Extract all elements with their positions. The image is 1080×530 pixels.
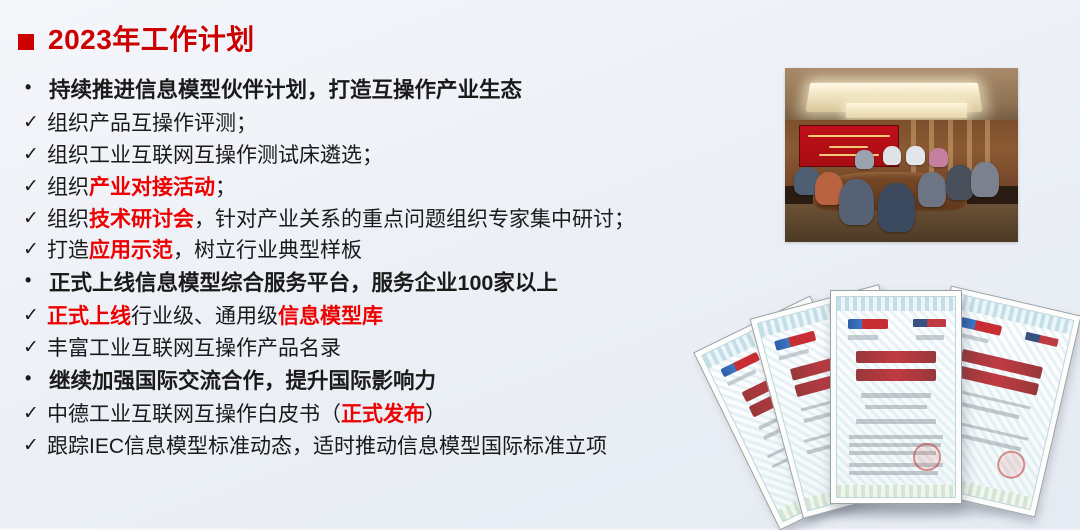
check-bullet-icon: ✓	[22, 237, 47, 262]
certificate-meta-line	[778, 348, 809, 361]
check-bullet-icon: ✓	[22, 401, 47, 426]
certificate-issuer-logo-icon	[913, 319, 946, 327]
check-line: ✓丰富工业互联网互操作产品名录	[22, 335, 742, 363]
dot-bullet-icon: •	[22, 76, 49, 100]
line-text: 持续推进信息模型伙伴计划，打造互操作产业生态	[49, 76, 742, 104]
content-list: •持续推进信息模型伙伴计划，打造互操作产业生态✓组织产品互操作评测；✓组织工业互…	[22, 76, 742, 465]
check-bullet-icon: ✓	[22, 335, 47, 360]
photo-person	[971, 162, 999, 197]
highlight-text: 正式发布	[341, 403, 425, 426]
highlight-text: 技术研讨会	[89, 208, 194, 231]
certificate-body-line	[861, 393, 932, 398]
certificate-logo-icon	[848, 319, 888, 329]
check-bullet-icon: ✓	[22, 206, 47, 231]
check-bullet-icon: ✓	[22, 303, 47, 328]
certificate-body-line	[856, 419, 936, 424]
photo-person	[883, 146, 902, 165]
certificate-seal-icon	[994, 448, 1028, 482]
certificate-seal-icon	[913, 443, 941, 471]
photo-person	[929, 148, 948, 167]
certificate-meta-line	[848, 335, 879, 340]
photo-person	[878, 183, 915, 232]
certificate-issuer-logo-icon	[1024, 332, 1059, 347]
certificate-body-line	[849, 435, 943, 439]
line-text: 继续加强国际交流合作，提升国际影响力	[49, 367, 742, 395]
text-segment: 组织产品互操作评测；	[47, 112, 257, 135]
check-line: ✓跟踪IEC信息模型标准动态，适时推动信息模型国际标准立项	[22, 433, 742, 461]
check-line: ✓组织产业对接活动；	[22, 174, 742, 202]
title-text: 2023年工作计划	[48, 26, 255, 54]
bullet-line: •持续推进信息模型伙伴计划，打造互操作产业生态	[22, 76, 742, 104]
text-segment: 组织	[47, 176, 89, 199]
certificate-item-front	[830, 290, 962, 504]
text-segment: ；	[215, 176, 236, 199]
photo-chandelier-secondary-icon	[846, 103, 967, 119]
certificate-logo-icon	[774, 331, 816, 351]
certificate-body-line	[865, 405, 926, 409]
certificate-meta-line	[957, 332, 988, 344]
bullet-line: •继续加强国际交流合作，提升国际影响力	[22, 367, 742, 395]
photo-person	[839, 179, 874, 224]
check-line: ✓组织技术研讨会，针对产业关系的重点问题组织专家集中研讨；	[22, 206, 742, 234]
highlight-text: 正式上线	[47, 305, 131, 328]
line-text: 打造应用示范，树立行业典型样板	[47, 237, 742, 265]
line-text: 跟踪IEC信息模型标准动态，适时推动信息模型国际标准立项	[47, 433, 742, 461]
text-segment: ，树立行业典型样板	[173, 239, 362, 262]
text-segment: 正式上线信息模型综合服务平台，服务企业100家以上	[49, 271, 558, 295]
title-square-bullet-icon	[18, 34, 34, 50]
check-line: ✓正式上线行业级、通用级信息模型库	[22, 303, 742, 331]
dot-bullet-icon: •	[22, 269, 49, 293]
check-line: ✓组织产品互操作评测；	[22, 110, 742, 138]
photo-led-text-line	[808, 135, 890, 137]
text-segment: 继续加强国际交流合作，提升国际影响力	[49, 369, 436, 393]
dot-bullet-icon: •	[22, 367, 49, 391]
line-text: 组织技术研讨会，针对产业关系的重点问题组织专家集中研讨；	[47, 206, 742, 234]
check-line: ✓组织工业互联网互操作测试床遴选；	[22, 142, 742, 170]
text-segment: 丰富工业互联网互操作产品名录	[47, 337, 341, 360]
slide-root: 2023年工作计划 •持续推进信息模型伙伴计划，打造互操作产业生态✓组织产品互操…	[0, 0, 1080, 528]
check-bullet-icon: ✓	[22, 142, 47, 167]
certificate-guilloche-top	[837, 297, 955, 311]
check-bullet-icon: ✓	[22, 433, 47, 458]
certificate-inner	[836, 296, 956, 498]
text-segment: ）	[425, 403, 446, 426]
photo-person	[918, 172, 946, 207]
text-segment: 组织	[47, 208, 89, 231]
check-bullet-icon: ✓	[22, 174, 47, 199]
line-text: 组织工业互联网互操作测试床遴选；	[47, 142, 742, 170]
certificate-body-line	[849, 471, 939, 475]
line-text: 中德工业互联网互操作白皮书（正式发布）	[47, 401, 742, 429]
certificate-meta-line	[916, 335, 944, 340]
check-line: ✓中德工业互联网互操作白皮书（正式发布）	[22, 401, 742, 429]
highlight-text: 应用示范	[89, 239, 173, 262]
text-segment: 中德工业互联网互操作白皮书（	[47, 403, 341, 426]
meeting-room-photo	[785, 68, 1018, 242]
check-line: ✓打造应用示范，树立行业典型样板	[22, 237, 742, 265]
certificate-guilloche-bottom	[837, 485, 955, 497]
highlight-text: 信息模型库	[278, 305, 383, 328]
certificate-title-line2	[856, 369, 936, 381]
text-segment: 组织工业互联网互操作测试床遴选；	[47, 144, 383, 167]
photo-led-text-line	[829, 146, 868, 148]
line-text: 组织产业对接活动；	[47, 174, 742, 202]
text-segment: 跟踪IEC信息模型标准动态，适时推动信息模型国际标准立项	[47, 435, 607, 458]
text-segment: 行业级、通用级	[131, 305, 278, 328]
certificates-photo	[730, 286, 1080, 528]
photo-person	[946, 165, 974, 200]
line-text: 正式上线行业级、通用级信息模型库	[47, 303, 742, 331]
bullet-line: •正式上线信息模型综合服务平台，服务企业100家以上	[22, 269, 742, 297]
certificate-title-line1	[856, 351, 936, 363]
photo-person	[906, 146, 925, 165]
highlight-text: 产业对接活动	[89, 176, 215, 199]
photo-person	[855, 150, 874, 169]
text-segment: 持续推进信息模型伙伴计划，打造互操作产业生态	[49, 78, 522, 102]
check-bullet-icon: ✓	[22, 110, 47, 135]
page-title: 2023年工作计划	[18, 26, 255, 54]
line-text: 组织产品互操作评测；	[47, 110, 742, 138]
line-text: 正式上线信息模型综合服务平台，服务企业100家以上	[49, 269, 742, 297]
certificate-logo-icon	[960, 317, 1002, 336]
text-segment: 打造	[47, 239, 89, 262]
line-text: 丰富工业互联网互操作产品名录	[47, 335, 742, 363]
text-segment: ，针对产业关系的重点问题组织专家集中研讨；	[194, 208, 635, 231]
